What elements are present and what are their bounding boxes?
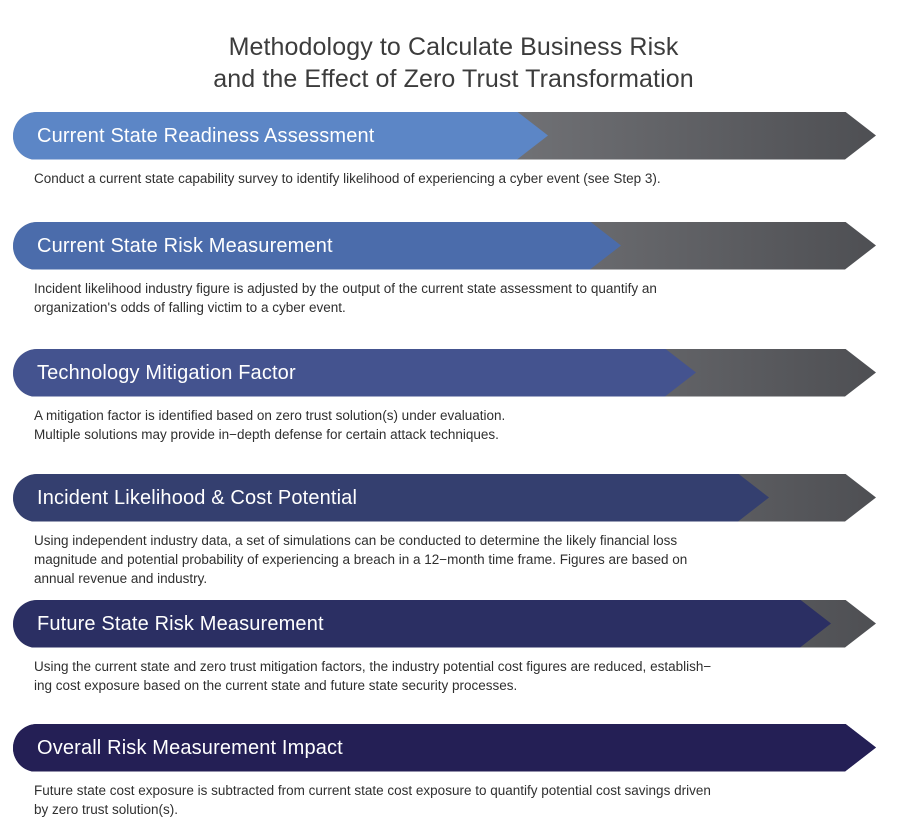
spacer-1 xyxy=(0,188,907,222)
page-title-line-2: and the Effect of Zero Trust Transformat… xyxy=(0,63,907,95)
step-5-description-line-1: Using the current state and zero trust m… xyxy=(34,657,862,676)
step-2-description-line-2: organization's odds of falling victim to… xyxy=(34,298,862,317)
step-4-label: Incident Likelihood & Cost Potential xyxy=(37,474,357,522)
step-5-chevron-bar[interactable]: Future State Risk Measurement xyxy=(13,600,876,648)
step-1-description: Conduct a current state capability surve… xyxy=(34,169,862,188)
step-6-label: Overall Risk Measurement Impact xyxy=(37,724,343,772)
step-3: Technology Mitigation Factor A mitigatio… xyxy=(0,349,907,444)
spacer-4 xyxy=(0,588,907,600)
step-4-description-line-3: annual revenue and industry. xyxy=(34,569,862,588)
step-4: Incident Likelihood & Cost Potential Usi… xyxy=(0,474,907,588)
step-3-description-line-1: A mitigation factor is identified based … xyxy=(34,406,862,425)
spacer-3 xyxy=(0,444,907,474)
spacer-2 xyxy=(0,317,907,349)
step-3-chevron-bar[interactable]: Technology Mitigation Factor xyxy=(13,349,876,397)
step-3-description: A mitigation factor is identified based … xyxy=(34,406,862,444)
step-5: Future State Risk Measurement Using the … xyxy=(0,600,907,695)
step-2-description: Incident likelihood industry figure is a… xyxy=(34,279,862,317)
step-2: Current State Risk Measurement Incident … xyxy=(0,222,907,317)
step-4-description: Using independent industry data, a set o… xyxy=(34,531,862,588)
step-6-description: Future state cost exposure is subtracted… xyxy=(34,781,862,819)
step-5-label: Future State Risk Measurement xyxy=(37,600,324,648)
step-6-description-line-1: Future state cost exposure is subtracted… xyxy=(34,781,862,800)
step-2-label: Current State Risk Measurement xyxy=(37,222,333,270)
step-1: Current State Readiness Assessment Condu… xyxy=(0,112,907,188)
step-1-chevron-bar[interactable]: Current State Readiness Assessment xyxy=(13,112,876,160)
step-2-chevron-bar[interactable]: Current State Risk Measurement xyxy=(13,222,876,270)
step-5-description-line-2: ing cost exposure based on the current s… xyxy=(34,676,862,695)
spacer-5 xyxy=(0,695,907,724)
step-4-chevron-bar[interactable]: Incident Likelihood & Cost Potential xyxy=(13,474,876,522)
methodology-step-list: Current State Readiness Assessment Condu… xyxy=(0,112,907,819)
step-4-description-line-1: Using independent industry data, a set o… xyxy=(34,531,862,550)
step-2-description-line-1: Incident likelihood industry figure is a… xyxy=(34,279,862,298)
step-6-description-line-2: by zero trust solution(s). xyxy=(34,800,862,819)
step-6: Overall Risk Measurement Impact Future s… xyxy=(0,724,907,819)
page-title-line-1: Methodology to Calculate Business Risk xyxy=(0,31,907,63)
step-1-description-line-1: Conduct a current state capability surve… xyxy=(34,169,862,188)
step-3-description-line-2: Multiple solutions may provide in−depth … xyxy=(34,425,862,444)
page-title: Methodology to Calculate Business Risk a… xyxy=(0,17,907,95)
step-3-label: Technology Mitigation Factor xyxy=(37,349,296,397)
step-1-label: Current State Readiness Assessment xyxy=(37,112,374,160)
step-4-description-line-2: magnitude and potential probability of e… xyxy=(34,550,862,569)
step-6-chevron-bar[interactable]: Overall Risk Measurement Impact xyxy=(13,724,876,772)
step-5-description: Using the current state and zero trust m… xyxy=(34,657,862,695)
